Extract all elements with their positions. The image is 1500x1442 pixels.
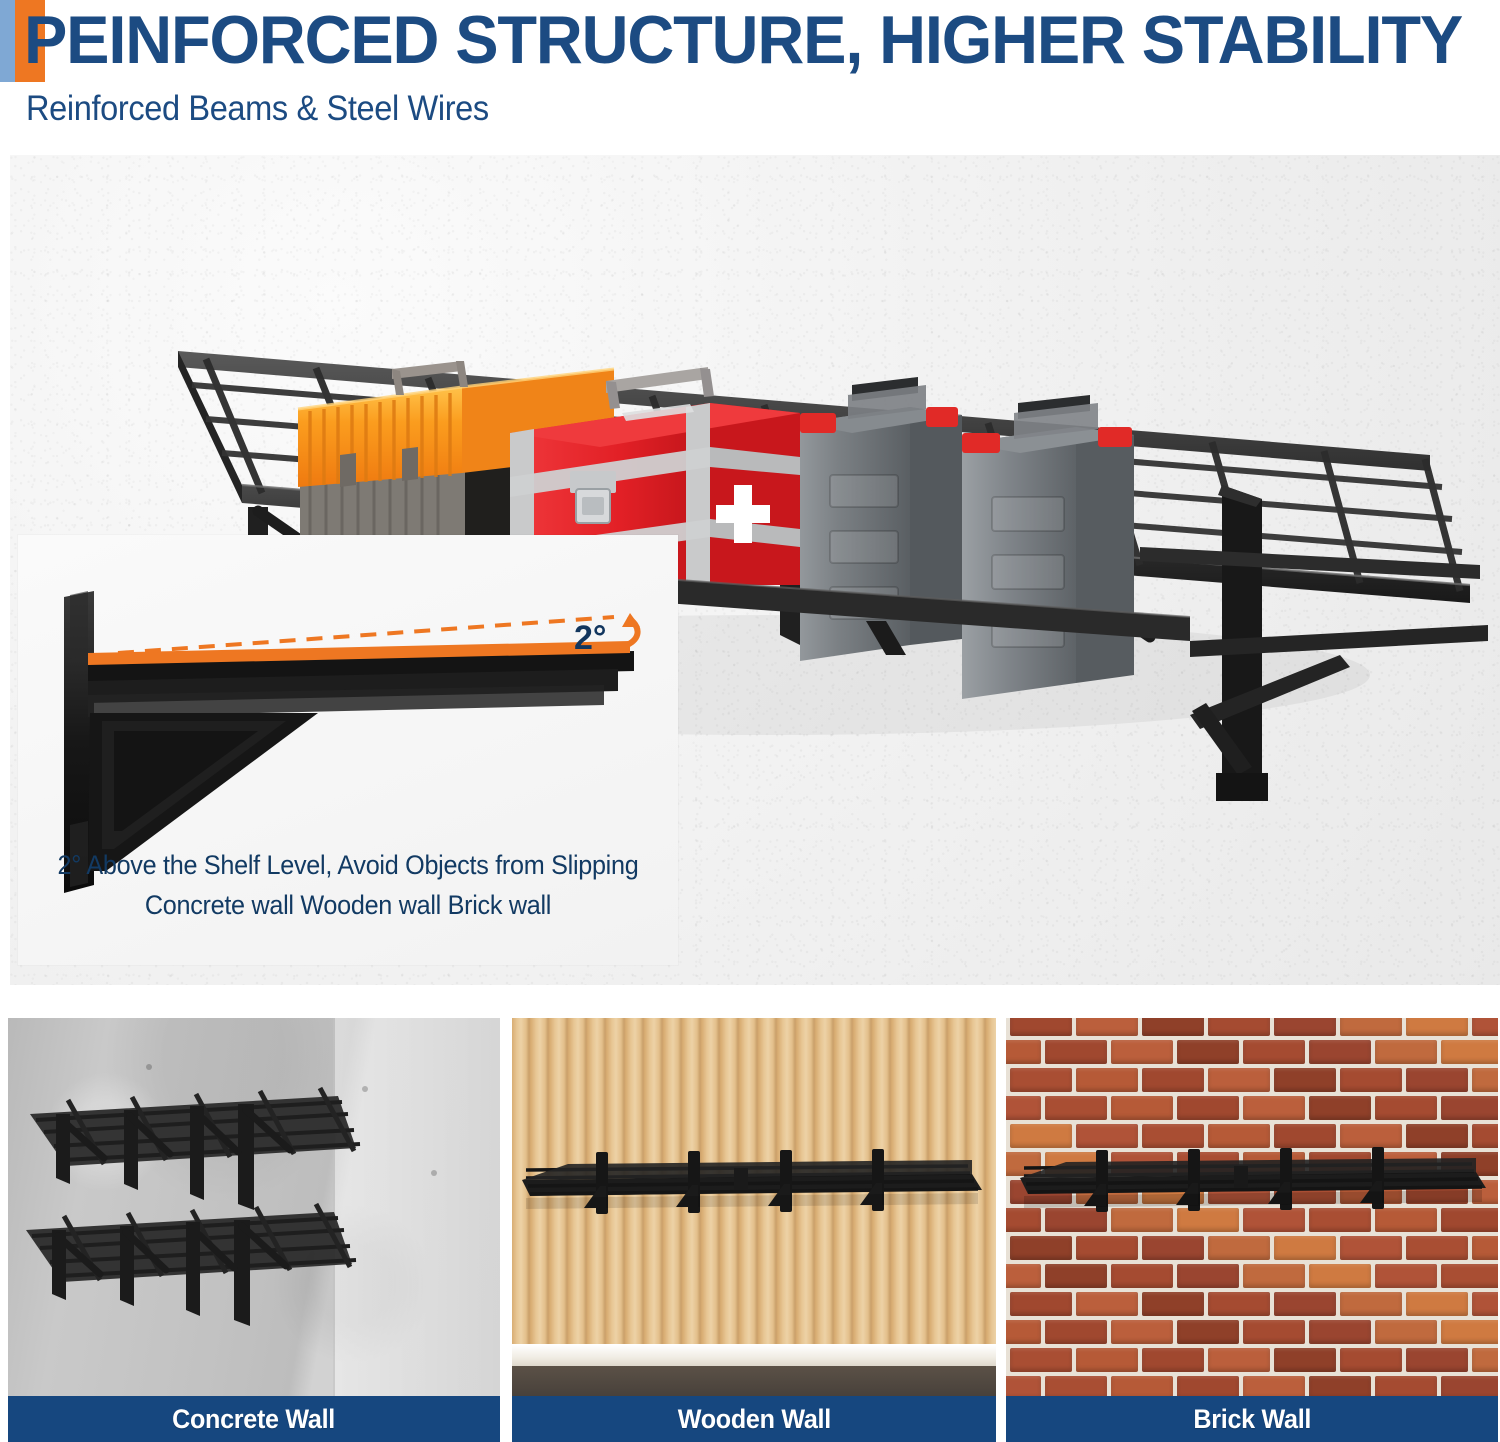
case-latch <box>570 471 616 523</box>
case-latch-red <box>800 413 836 433</box>
header: PEINFORCED STRUCTURE, HIGHER STABILITY R… <box>0 0 1500 140</box>
hero-product-image: 2° 2° Above the Shelf Level, Avoid Objec… <box>10 155 1500 985</box>
panel-label-bar-concrete: Concrete Wall <box>8 1396 500 1442</box>
brick-wall-scene <box>1006 1018 1498 1398</box>
infographic-page: PEINFORCED STRUCTURE, HIGHER STABILITY R… <box>0 0 1500 1442</box>
tilt-angle-inset: 2° 2° Above the Shelf Level, Avoid Objec… <box>18 535 678 965</box>
panel-label-bar-brick: Brick Wall <box>1006 1396 1498 1442</box>
case-latch-red <box>926 407 958 427</box>
case-latch-red <box>962 433 1000 453</box>
case-latch-red <box>1098 427 1132 447</box>
wooden-shelf-illustration <box>512 1018 996 1398</box>
panel-label-brick: Brick Wall <box>1193 1404 1311 1435</box>
inset-caption-line1: 2° Above the Shelf Level, Avoid Objects … <box>58 850 639 880</box>
angle-label: 2° <box>574 619 607 657</box>
concrete-shelves-illustration <box>8 1018 500 1398</box>
page-title: PEINFORCED STRUCTURE, HIGHER STABILITY <box>24 0 1428 83</box>
inset-caption-line2: Concrete wall Wooden wall Brick wall <box>35 885 662 925</box>
panel-label-wooden: Wooden Wall <box>677 1404 830 1435</box>
inset-caption: 2° Above the Shelf Level, Avoid Objects … <box>35 845 662 925</box>
panel-wooden-wall: Wooden Wall <box>512 1018 996 1442</box>
gray-hard-case-2 <box>962 395 1134 699</box>
brick-shelf-illustration <box>1006 1018 1498 1398</box>
header-accent-bar-blue <box>0 0 15 82</box>
page-subtitle: Reinforced Beams & Steel Wires <box>26 86 489 132</box>
shelf-lower <box>26 1204 356 1326</box>
wooden-wall-scene <box>512 1018 996 1398</box>
concrete-wall-scene <box>8 1018 500 1398</box>
panel-concrete-wall: Concrete Wall <box>8 1018 500 1442</box>
shelf-upper <box>30 1088 360 1210</box>
panel-label-concrete: Concrete Wall <box>173 1404 336 1435</box>
wall-type-panels: Concrete Wall <box>0 1018 1500 1442</box>
panel-brick-wall: Brick Wall <box>1006 1018 1498 1442</box>
panel-label-bar-wooden: Wooden Wall <box>512 1396 996 1442</box>
